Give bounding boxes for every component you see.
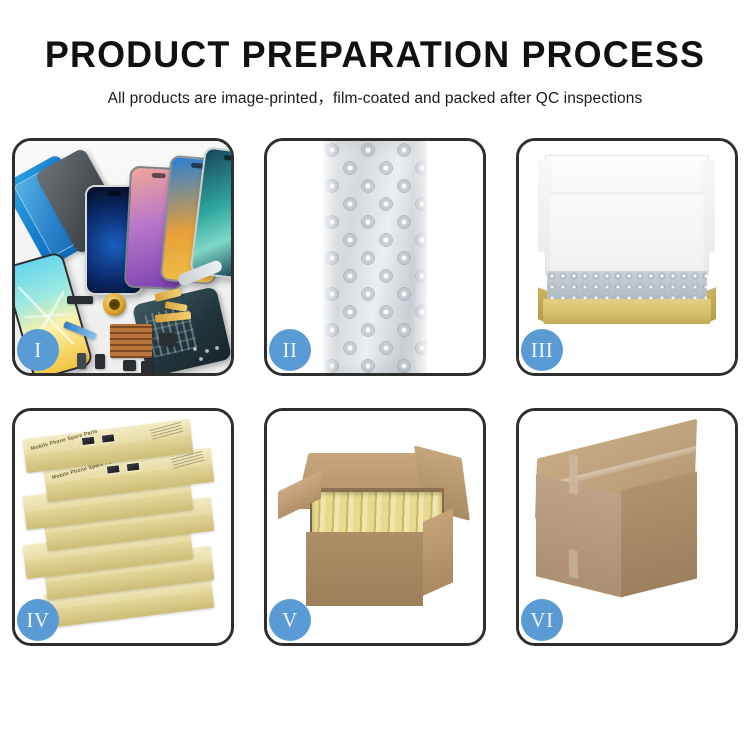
bubble-wrap-icon bbox=[323, 141, 427, 373]
component-chip-icon bbox=[159, 333, 176, 346]
header: PRODUCT PREPARATION PROCESS All products… bbox=[0, 0, 750, 108]
carton-right-face-icon bbox=[621, 471, 697, 597]
screws-icon bbox=[191, 345, 221, 363]
packing-tape-icon bbox=[569, 549, 578, 579]
carton-side-icon bbox=[423, 509, 453, 597]
foam-insert-icon bbox=[549, 192, 705, 276]
process-grid: I II III bbox=[12, 138, 738, 694]
bubble-wrap-icon bbox=[547, 271, 707, 301]
step-badge-6: VI bbox=[521, 599, 563, 641]
box-screen-image-icon bbox=[126, 461, 141, 472]
box-stack: Mobile Phone Spare Parts Mobile Phone Sp… bbox=[15, 425, 231, 629]
step-badge-3: III bbox=[521, 329, 563, 371]
carton-left-face-icon bbox=[536, 474, 622, 598]
process-step-4: Mobile Phone Spare Parts Mobile Phone Sp… bbox=[12, 408, 234, 646]
box-screen-image-icon bbox=[106, 464, 121, 475]
copper-mesh-icon bbox=[110, 324, 152, 358]
process-step-5: V bbox=[264, 408, 486, 646]
component-chip-icon bbox=[141, 361, 152, 373]
process-step-6: VI bbox=[516, 408, 738, 646]
page-title: PRODUCT PREPARATION PROCESS bbox=[11, 36, 739, 75]
component-chip-icon bbox=[123, 360, 136, 371]
process-step-2: II bbox=[264, 138, 486, 376]
step-badge-1: I bbox=[17, 329, 59, 371]
step-badge-4: IV bbox=[17, 599, 59, 641]
component-chip-icon bbox=[67, 296, 93, 304]
step-badge-2: II bbox=[269, 329, 311, 371]
carton-front-icon bbox=[306, 532, 423, 606]
box-screen-image-icon bbox=[80, 436, 95, 447]
infographic-page: PRODUCT PREPARATION PROCESS All products… bbox=[0, 0, 750, 750]
kraft-tray-icon bbox=[543, 299, 711, 325]
component-chip-icon bbox=[95, 354, 105, 369]
speaker-coil-icon bbox=[103, 293, 126, 316]
process-step-3: III bbox=[516, 138, 738, 376]
step-badge-5: V bbox=[269, 599, 311, 641]
packing-tape-icon bbox=[569, 454, 578, 496]
box-screen-image-icon bbox=[100, 433, 115, 444]
component-chip-icon bbox=[77, 353, 86, 369]
page-subtitle: All products are image-printed，film-coat… bbox=[0, 86, 750, 108]
process-step-1: I bbox=[12, 138, 234, 376]
